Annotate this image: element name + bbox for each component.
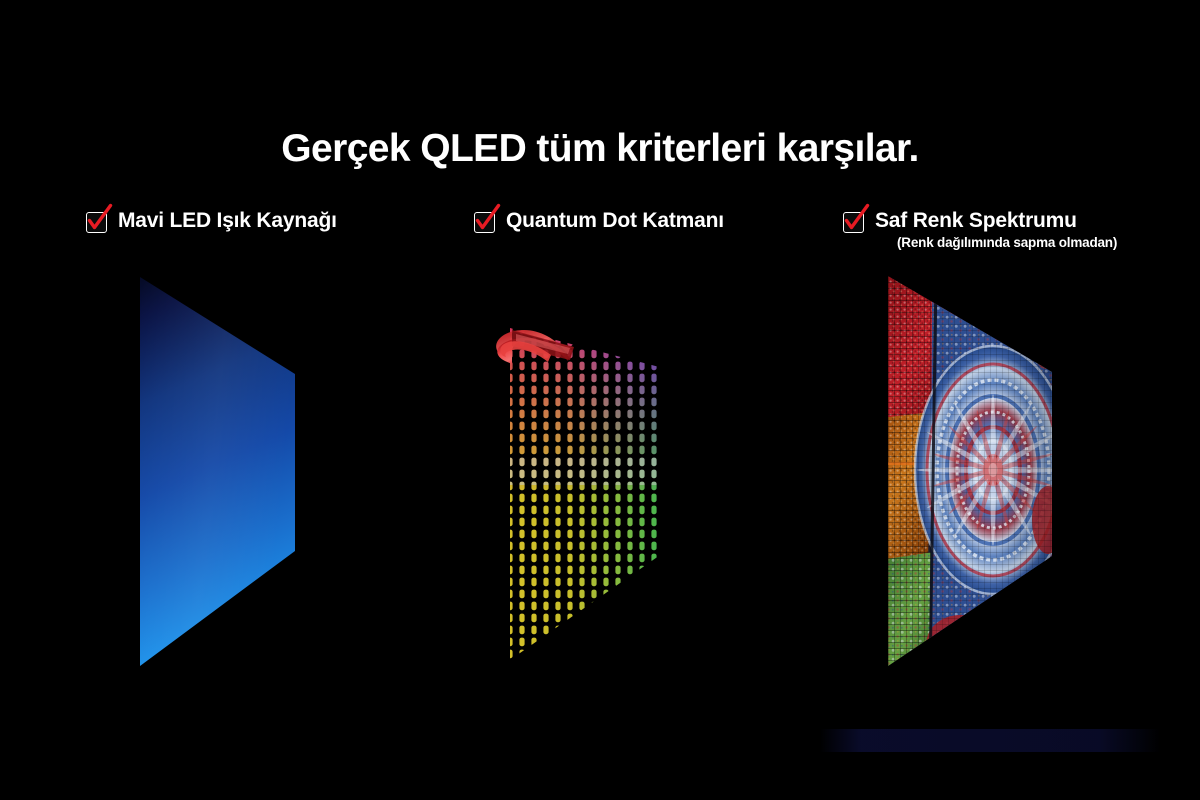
checked-checkbox-icon: [86, 211, 109, 234]
quantum-dot-panel: [0, 0, 1200, 800]
checked-checkbox-icon: [474, 211, 497, 234]
criterion-label: Quantum Dot Katmanı: [506, 209, 724, 233]
page-title: Gerçek QLED tüm kriterleri karşılar.: [0, 128, 1200, 171]
criterion-mavi-led: Mavi LED Işık Kaynağı: [86, 209, 337, 234]
criterion-quantum-dot: Quantum Dot Katmanı: [474, 209, 724, 234]
bottom-navy-band: [820, 729, 1160, 752]
blue-panel-face: [140, 277, 295, 666]
checked-checkbox-icon: [843, 211, 866, 234]
blue-panel-sheen: [140, 277, 295, 666]
illustrations-layer: [0, 0, 1200, 800]
color-spectrum-panel: [0, 0, 1200, 800]
criterion-label: Saf Renk Spektrumu: [875, 209, 1117, 233]
criterion-label: Mavi LED Işık Kaynağı: [118, 209, 337, 233]
peeling-film-corner: [496, 330, 574, 364]
blue-led-panel: [0, 0, 1200, 800]
qled-criteria-slide: Gerçek QLED tüm kriterleri karşılar. Mav…: [0, 0, 1200, 800]
criterion-saf-renk: Saf Renk Spektrumu (Renk dağılımında sap…: [843, 209, 1117, 253]
criterion-subtitle: (Renk dağılımında sapma olmadan): [897, 233, 1117, 253]
